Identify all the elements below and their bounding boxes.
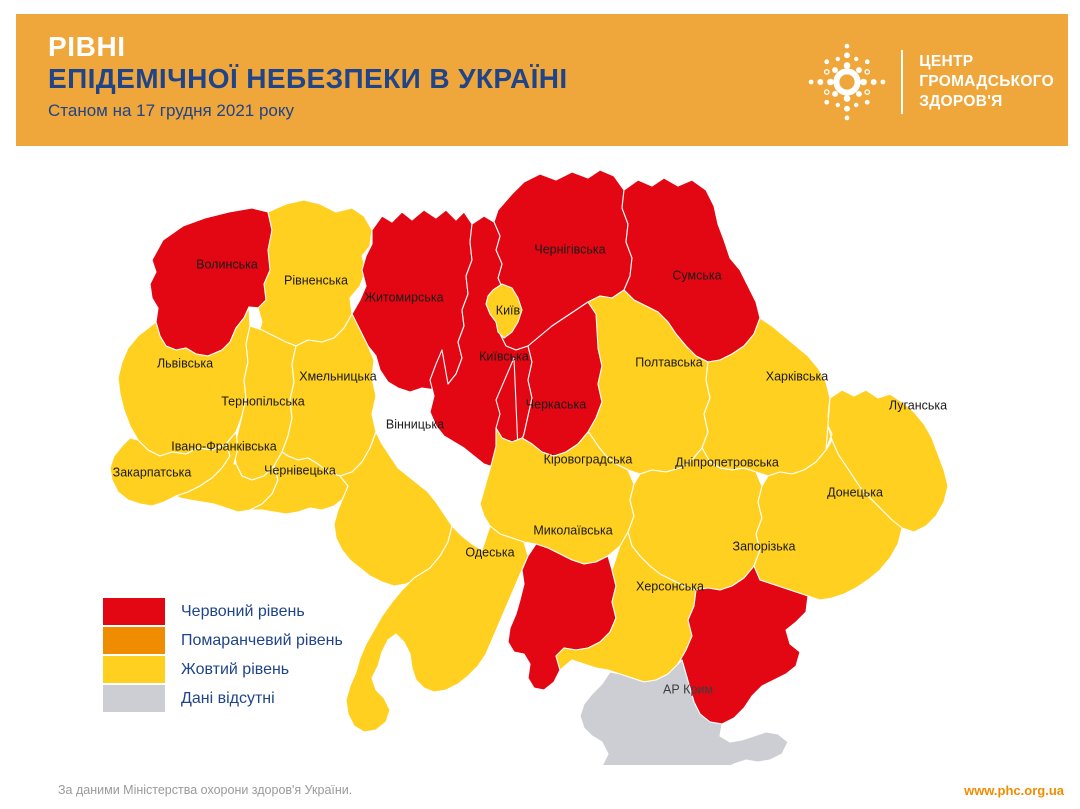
legend-label-yellow: Жовтий рівень bbox=[181, 661, 289, 679]
label-vinnytsia: Вінницька bbox=[386, 417, 444, 431]
label-sumy: Сумська bbox=[672, 268, 721, 282]
label-kharkiv: Харківська bbox=[766, 369, 828, 383]
header-text-block: РІВНІ ЕПІДЕМІЧНОЇ НЕБЕЗПЕКИ В УКРАЇНІ Ст… bbox=[48, 32, 568, 121]
dot-diamond-logo-icon bbox=[801, 36, 893, 128]
legend-swatch-yellow bbox=[103, 656, 165, 683]
label-luhansk: Луганська bbox=[889, 398, 947, 412]
label-chernivtsi: Чернівецька bbox=[264, 463, 336, 477]
label-kyiv-oblast: Київська bbox=[479, 349, 529, 363]
footer-source-text: За даними Міністерства охорони здоров'я … bbox=[58, 783, 352, 797]
map-legend: Червоний рівень Помаранчевий рівень Жовт… bbox=[103, 597, 343, 713]
label-crimea: АР Крим bbox=[663, 682, 713, 696]
label-zakarpattia: Закарпатська bbox=[113, 465, 192, 479]
label-zaporizhzhia: Запорізька bbox=[733, 539, 796, 553]
page-subtitle-date: Станом на 17 грудня 2021 року bbox=[48, 101, 568, 121]
label-zhytomyr: Житомирська bbox=[364, 290, 443, 304]
legend-item-red[interactable]: Червоний рівень bbox=[103, 597, 343, 626]
label-ternopil: Тернопільська bbox=[221, 394, 305, 408]
label-kherson: Херсонська bbox=[636, 579, 704, 593]
logo-line-2: ГРОМАДСЬКОГО bbox=[919, 72, 1054, 92]
organization-logo: ЦЕНТР ГРОМАДСЬКОГО ЗДОРОВ'Я bbox=[801, 36, 1054, 128]
logo-line-3: ЗДОРОВ'Я bbox=[919, 92, 1054, 112]
legend-label-no-data: Дані відсутні bbox=[181, 690, 275, 708]
label-donetsk: Донецька bbox=[827, 485, 883, 499]
legend-item-no-data[interactable]: Дані відсутні bbox=[103, 684, 343, 713]
label-mykolaiv: Миколаївська bbox=[533, 523, 612, 537]
footer-website-link[interactable]: www.phc.org.ua bbox=[964, 783, 1064, 798]
legend-label-orange: Помаранчевий рівень bbox=[181, 632, 343, 650]
label-khmelnytskyi: Хмельницька bbox=[299, 369, 377, 383]
legend-swatch-red bbox=[103, 598, 165, 625]
label-dnipro: Дніпропетровська bbox=[675, 455, 779, 469]
legend-item-orange[interactable]: Помаранчевий рівень bbox=[103, 626, 343, 655]
label-chernihiv: Чернігівська bbox=[534, 242, 605, 256]
logo-wordmark: ЦЕНТР ГРОМАДСЬКОГО ЗДОРОВ'Я bbox=[919, 52, 1054, 111]
legend-swatch-no-data bbox=[103, 685, 165, 712]
label-kyiv-city: Київ bbox=[496, 303, 521, 317]
label-kirovohrad: Кіровоградська bbox=[544, 452, 633, 466]
label-odesa: Одеська bbox=[465, 545, 514, 559]
label-poltava: Полтавська bbox=[635, 355, 702, 369]
label-lviv: Львівська bbox=[157, 356, 213, 370]
logo-divider bbox=[901, 50, 903, 114]
label-rivne: Рівненська bbox=[284, 273, 348, 287]
label-volyn: Волинська bbox=[196, 257, 258, 271]
label-cherkasy: Черкаська bbox=[526, 397, 586, 411]
page-title-line1: РІВНІ bbox=[48, 32, 568, 61]
header-banner: РІВНІ ЕПІДЕМІЧНОЇ НЕБЕЗПЕКИ В УКРАЇНІ Ст… bbox=[16, 14, 1068, 146]
label-ivano-frankivsk: Івано-Франківська bbox=[171, 439, 277, 453]
legend-swatch-orange bbox=[103, 627, 165, 654]
legend-item-yellow[interactable]: Жовтий рівень bbox=[103, 655, 343, 684]
legend-label-red: Червоний рівень bbox=[181, 603, 305, 621]
logo-line-1: ЦЕНТР bbox=[919, 52, 1054, 72]
page-title-line2: ЕПІДЕМІЧНОЇ НЕБЕЗПЕКИ В УКРАЇНІ bbox=[48, 63, 568, 94]
